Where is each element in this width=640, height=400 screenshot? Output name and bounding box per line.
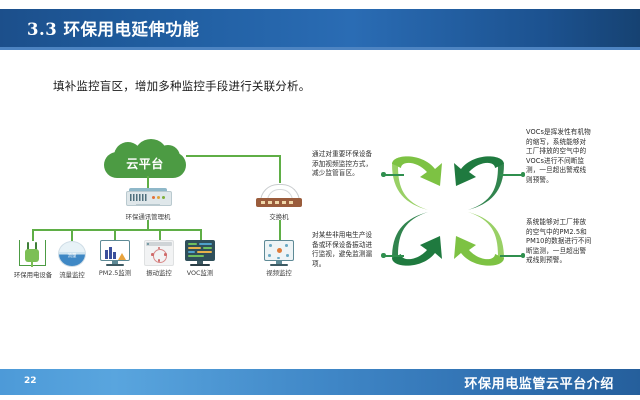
header-underline — [0, 47, 640, 50]
note-top-right: VOCs是挥发性有机物的缩写，系统能够对工厂排放的空气中的VOCs进行不间断监测… — [526, 128, 592, 186]
leader-line-top-left — [382, 174, 404, 176]
bus-horizontal — [32, 229, 200, 231]
footer-title: 环保用电监管云平台介绍 — [464, 373, 614, 392]
right-cycle-diagram: 视频监控 VOCs监测 振动监视 粉尘监测 通过对重要环保设备添加视频监控方式，… — [310, 118, 635, 303]
leader-line-bottom-right — [500, 255, 524, 257]
gateway-ports — [130, 194, 147, 201]
page-number: 22 — [24, 376, 37, 386]
device-node-1: 流量 流量监控 — [48, 241, 96, 279]
device-node-5: 视频监控 — [256, 240, 302, 277]
video-network-monitor-icon — [264, 240, 294, 266]
link-cloud-switch-v — [279, 155, 281, 183]
note-bottom-right: 系统能够对工厂排放的空气中的PM2.5和PM10的数据进行不间断监测，一旦超出警… — [526, 218, 592, 266]
device-label-3: 振动监控 — [136, 268, 182, 277]
drop-dev-5 — [279, 220, 281, 241]
gateway-device-icon — [126, 188, 170, 208]
leader-line-top-right — [500, 174, 524, 176]
gateway-base — [136, 204, 160, 206]
leader-line-bottom-left — [382, 255, 404, 257]
device-label-4: VOC监测 — [177, 268, 223, 277]
slide: 3.3 环保用电延伸功能 填补监控盲区，增加多种监控手段进行关联分析。 云平台 — [0, 0, 640, 400]
gateway-led — [162, 196, 165, 199]
cloud-platform-label: 云平台 — [104, 155, 186, 172]
left-topology-diagram: 云平台 环保通讯管理机 交换机 — [8, 126, 308, 281]
device-label-2: PM2.5监测 — [91, 268, 139, 277]
gateway-led — [152, 196, 155, 199]
flow-gauge-text: 流量 — [58, 253, 86, 259]
bar-chart-monitor-icon — [100, 240, 130, 266]
note-bottom-left: 对某些非用电生产设备或环保设备振动进行监视，避免监测漏项。 — [312, 231, 378, 269]
gateway-led — [157, 196, 160, 199]
device-node-2: PM2.5监测 — [91, 240, 139, 277]
device-label-5: 视频监控 — [256, 268, 302, 277]
page-title: 3.3 环保用电延伸功能 — [27, 16, 199, 40]
switch-body — [256, 198, 302, 207]
vibration-window-icon — [144, 240, 174, 266]
flow-gauge-icon: 流量 — [58, 241, 86, 267]
link-cloud-switch-h — [186, 155, 281, 157]
note-top-left: 通过对重要环保设备添加视频监控方式，减少监管盲区。 — [312, 150, 378, 179]
cloud-platform-node: 云平台 — [104, 140, 186, 178]
section-title: 环保用电延伸功能 — [63, 20, 199, 39]
drop-dev-1 — [71, 229, 73, 241]
power-plug-icon — [18, 240, 48, 268]
link-cloud-gateway — [147, 176, 149, 188]
switch-device-icon — [256, 184, 302, 208]
device-label-1: 流量监控 — [48, 270, 96, 279]
device-node-4: VOC监测 — [177, 240, 223, 277]
intro-text: 填补监控盲区，增加多种监控手段进行关联分析。 — [53, 78, 310, 94]
section-number: 3.3 — [27, 20, 57, 39]
device-node-3: 振动监控 — [136, 240, 182, 277]
voc-monitor-icon — [185, 240, 215, 266]
